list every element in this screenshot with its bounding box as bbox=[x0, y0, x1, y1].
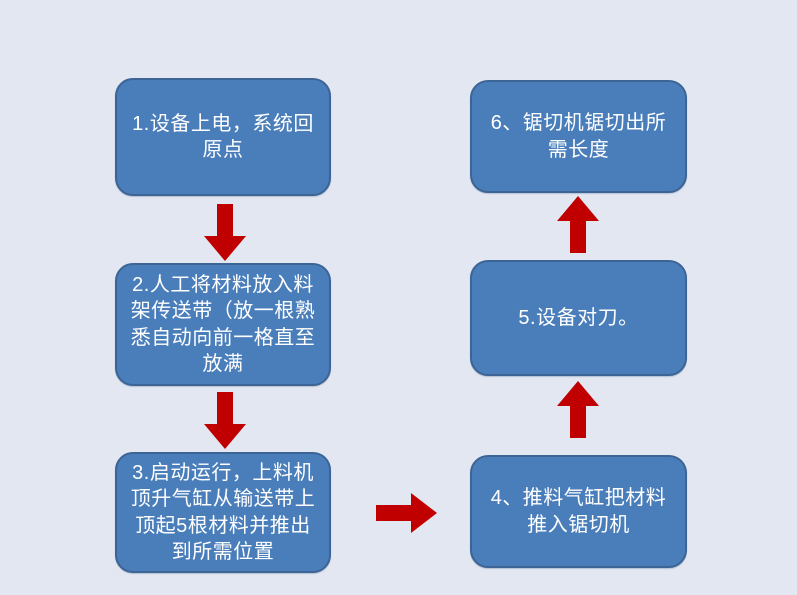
arrow-down-icon bbox=[203, 392, 247, 450]
flow-node-step3[interactable]: 3.启动运行，上料机顶升气缸从输送带上顶起5根材料并推出到所需位置 bbox=[115, 452, 331, 573]
flow-node-step6[interactable]: 6、锯切机锯切出所需长度 bbox=[470, 80, 687, 193]
flow-node-step6-label: 6、锯切机锯切出所需长度 bbox=[484, 110, 673, 163]
flow-node-step2-label: 2.人工将材料放入料架传送带（放一根熟悉自动向前一格直至放满 bbox=[129, 272, 317, 378]
flowchart-canvas: 1.设备上电，系统回原点 2.人工将材料放入料架传送带（放一根熟悉自动向前一格直… bbox=[0, 0, 797, 595]
arrow-up-icon bbox=[556, 195, 600, 253]
flow-node-step5[interactable]: 5.设备对刀。 bbox=[470, 260, 687, 376]
arrow-up-icon bbox=[556, 380, 600, 438]
arrow-down-icon bbox=[203, 204, 247, 262]
arrow-right-icon bbox=[376, 492, 438, 534]
flow-node-step3-label: 3.启动运行，上料机顶升气缸从输送带上顶起5根材料并推出到所需位置 bbox=[129, 460, 317, 566]
flow-node-step5-label: 5.设备对刀。 bbox=[484, 305, 673, 331]
flow-node-step4[interactable]: 4、推料气缸把材料推入锯切机 bbox=[470, 455, 687, 568]
flow-node-step4-label: 4、推料气缸把材料推入锯切机 bbox=[484, 485, 673, 538]
flow-node-step1[interactable]: 1.设备上电，系统回原点 bbox=[115, 78, 331, 196]
flow-node-step1-label: 1.设备上电，系统回原点 bbox=[129, 111, 317, 164]
flow-node-step2[interactable]: 2.人工将材料放入料架传送带（放一根熟悉自动向前一格直至放满 bbox=[115, 263, 331, 386]
